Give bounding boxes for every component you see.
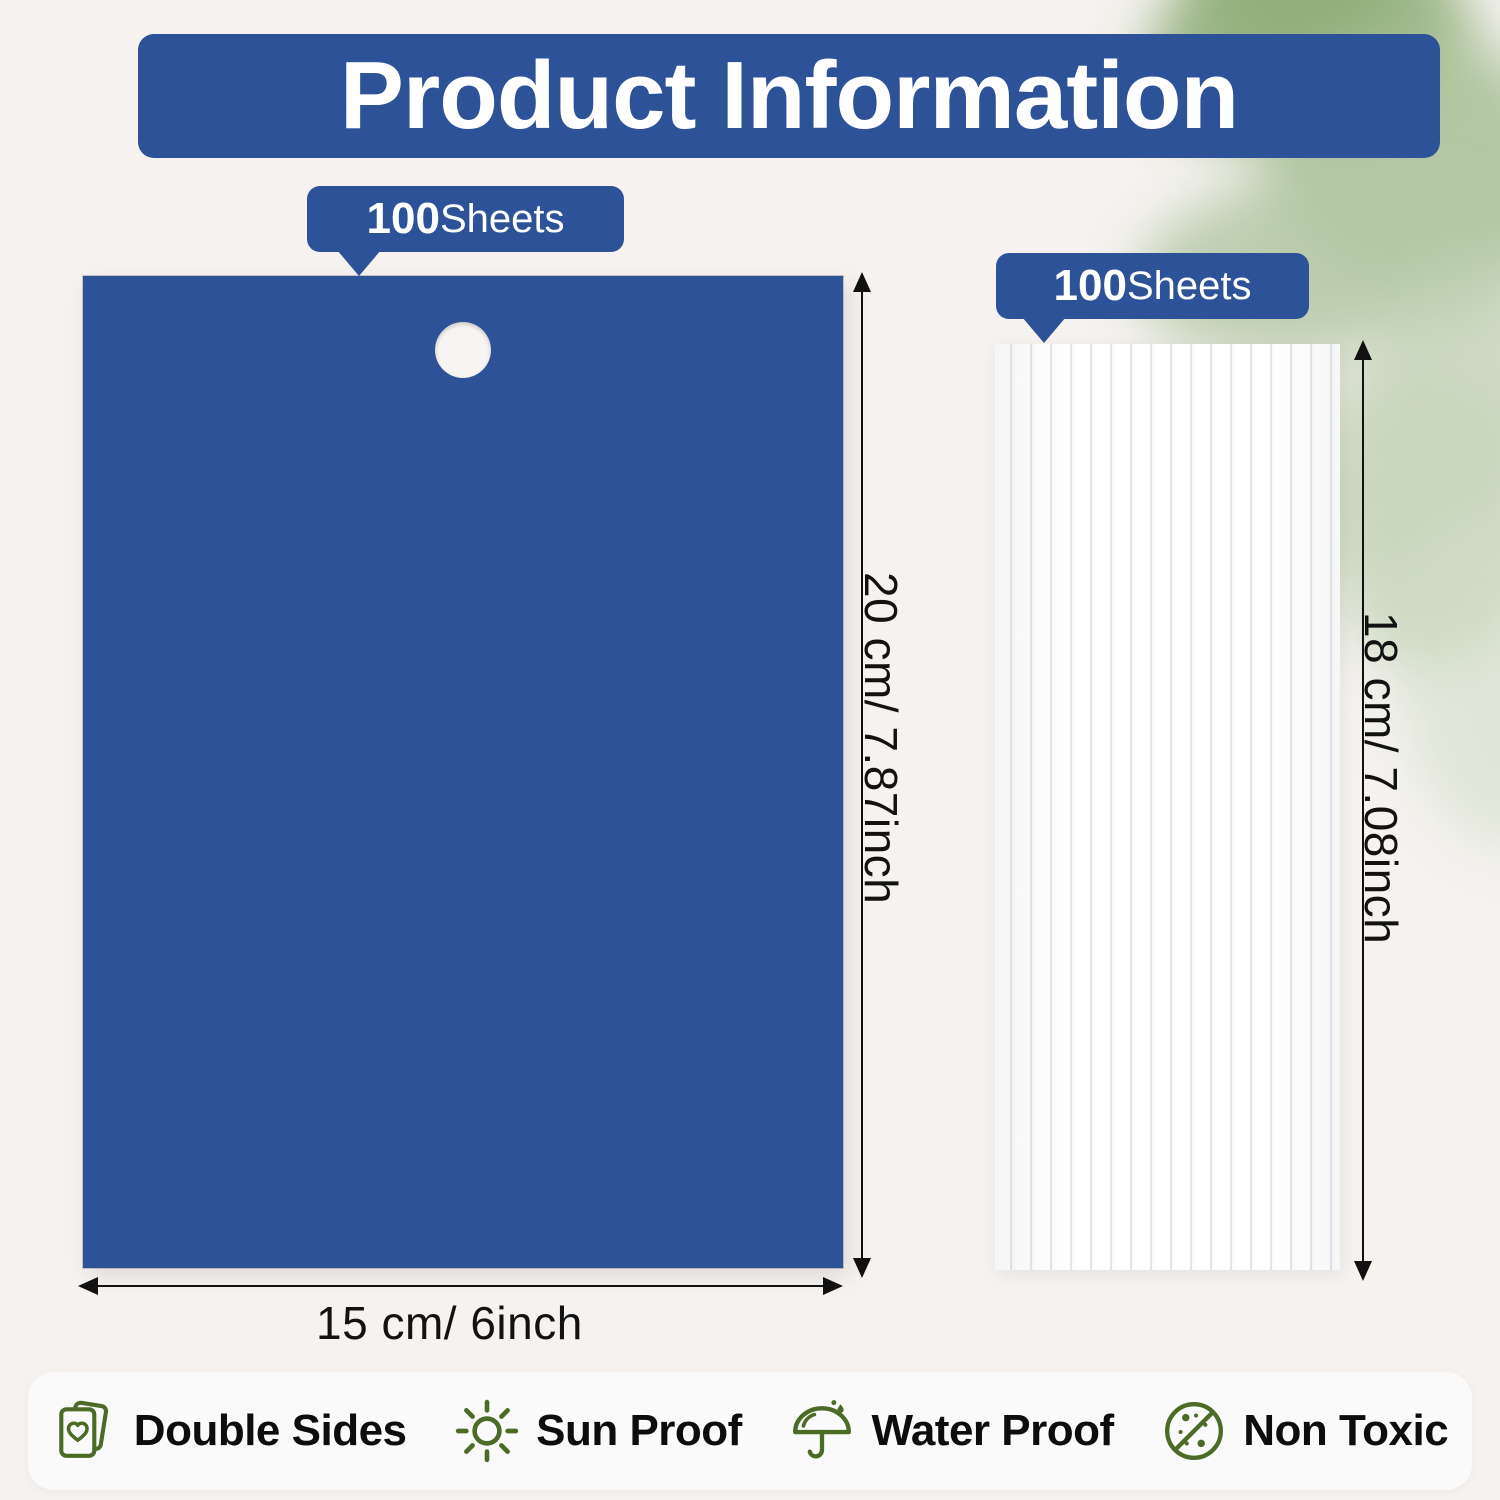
badge-count: 100 [367,197,440,241]
badge-unit: Sheets [440,199,565,239]
badge-pointer-icon [1022,317,1066,343]
feature-label: Non Toxic [1243,1406,1448,1456]
punch-hole-icon [435,322,491,378]
double-cards-heart-icon [52,1398,118,1464]
no-toxic-icon [1161,1398,1227,1464]
badge-unit: Sheets [1127,266,1252,306]
dim-arrow-down-icon [1354,1261,1372,1281]
dim-arrow-down-icon [853,1258,871,1278]
white-sheet-stack [995,344,1340,1270]
feature-bar: Double Sides Sun Proof [28,1372,1472,1490]
blue-sheet-width-label: 15 cm/ 6inch [316,1296,583,1350]
feature-label: Water Proof [871,1406,1113,1456]
badge-count: 100 [1054,264,1127,308]
feature-double-sides: Double Sides [52,1398,407,1464]
product-information-infographic: Product Information 100 Sheets 100 Sheet… [0,0,1500,1500]
page-title: Product Information [340,48,1238,144]
badge-blue-sheet: 100 Sheets [307,186,624,252]
feature-label: Sun Proof [536,1406,742,1456]
umbrella-icon [789,1398,855,1464]
dim-arrow-right-icon [823,1277,843,1295]
feature-water-proof: Water Proof [789,1398,1113,1464]
header-banner: Product Information [138,34,1440,158]
badge-white-sheet: 100 Sheets [996,253,1309,319]
blue-sticky-sheet [83,276,843,1268]
dim-line-horizontal [92,1285,837,1287]
badge-pointer-icon [337,250,381,276]
sun-icon [454,1398,520,1464]
feature-non-toxic: Non Toxic [1161,1398,1448,1464]
white-sheet-height-label: 18 cm/ 7.08inch [1354,612,1408,944]
feature-sun-proof: Sun Proof [454,1398,742,1464]
feature-label: Double Sides [134,1406,407,1456]
blue-sheet-height-label: 20 cm/ 7.87inch [854,572,908,904]
